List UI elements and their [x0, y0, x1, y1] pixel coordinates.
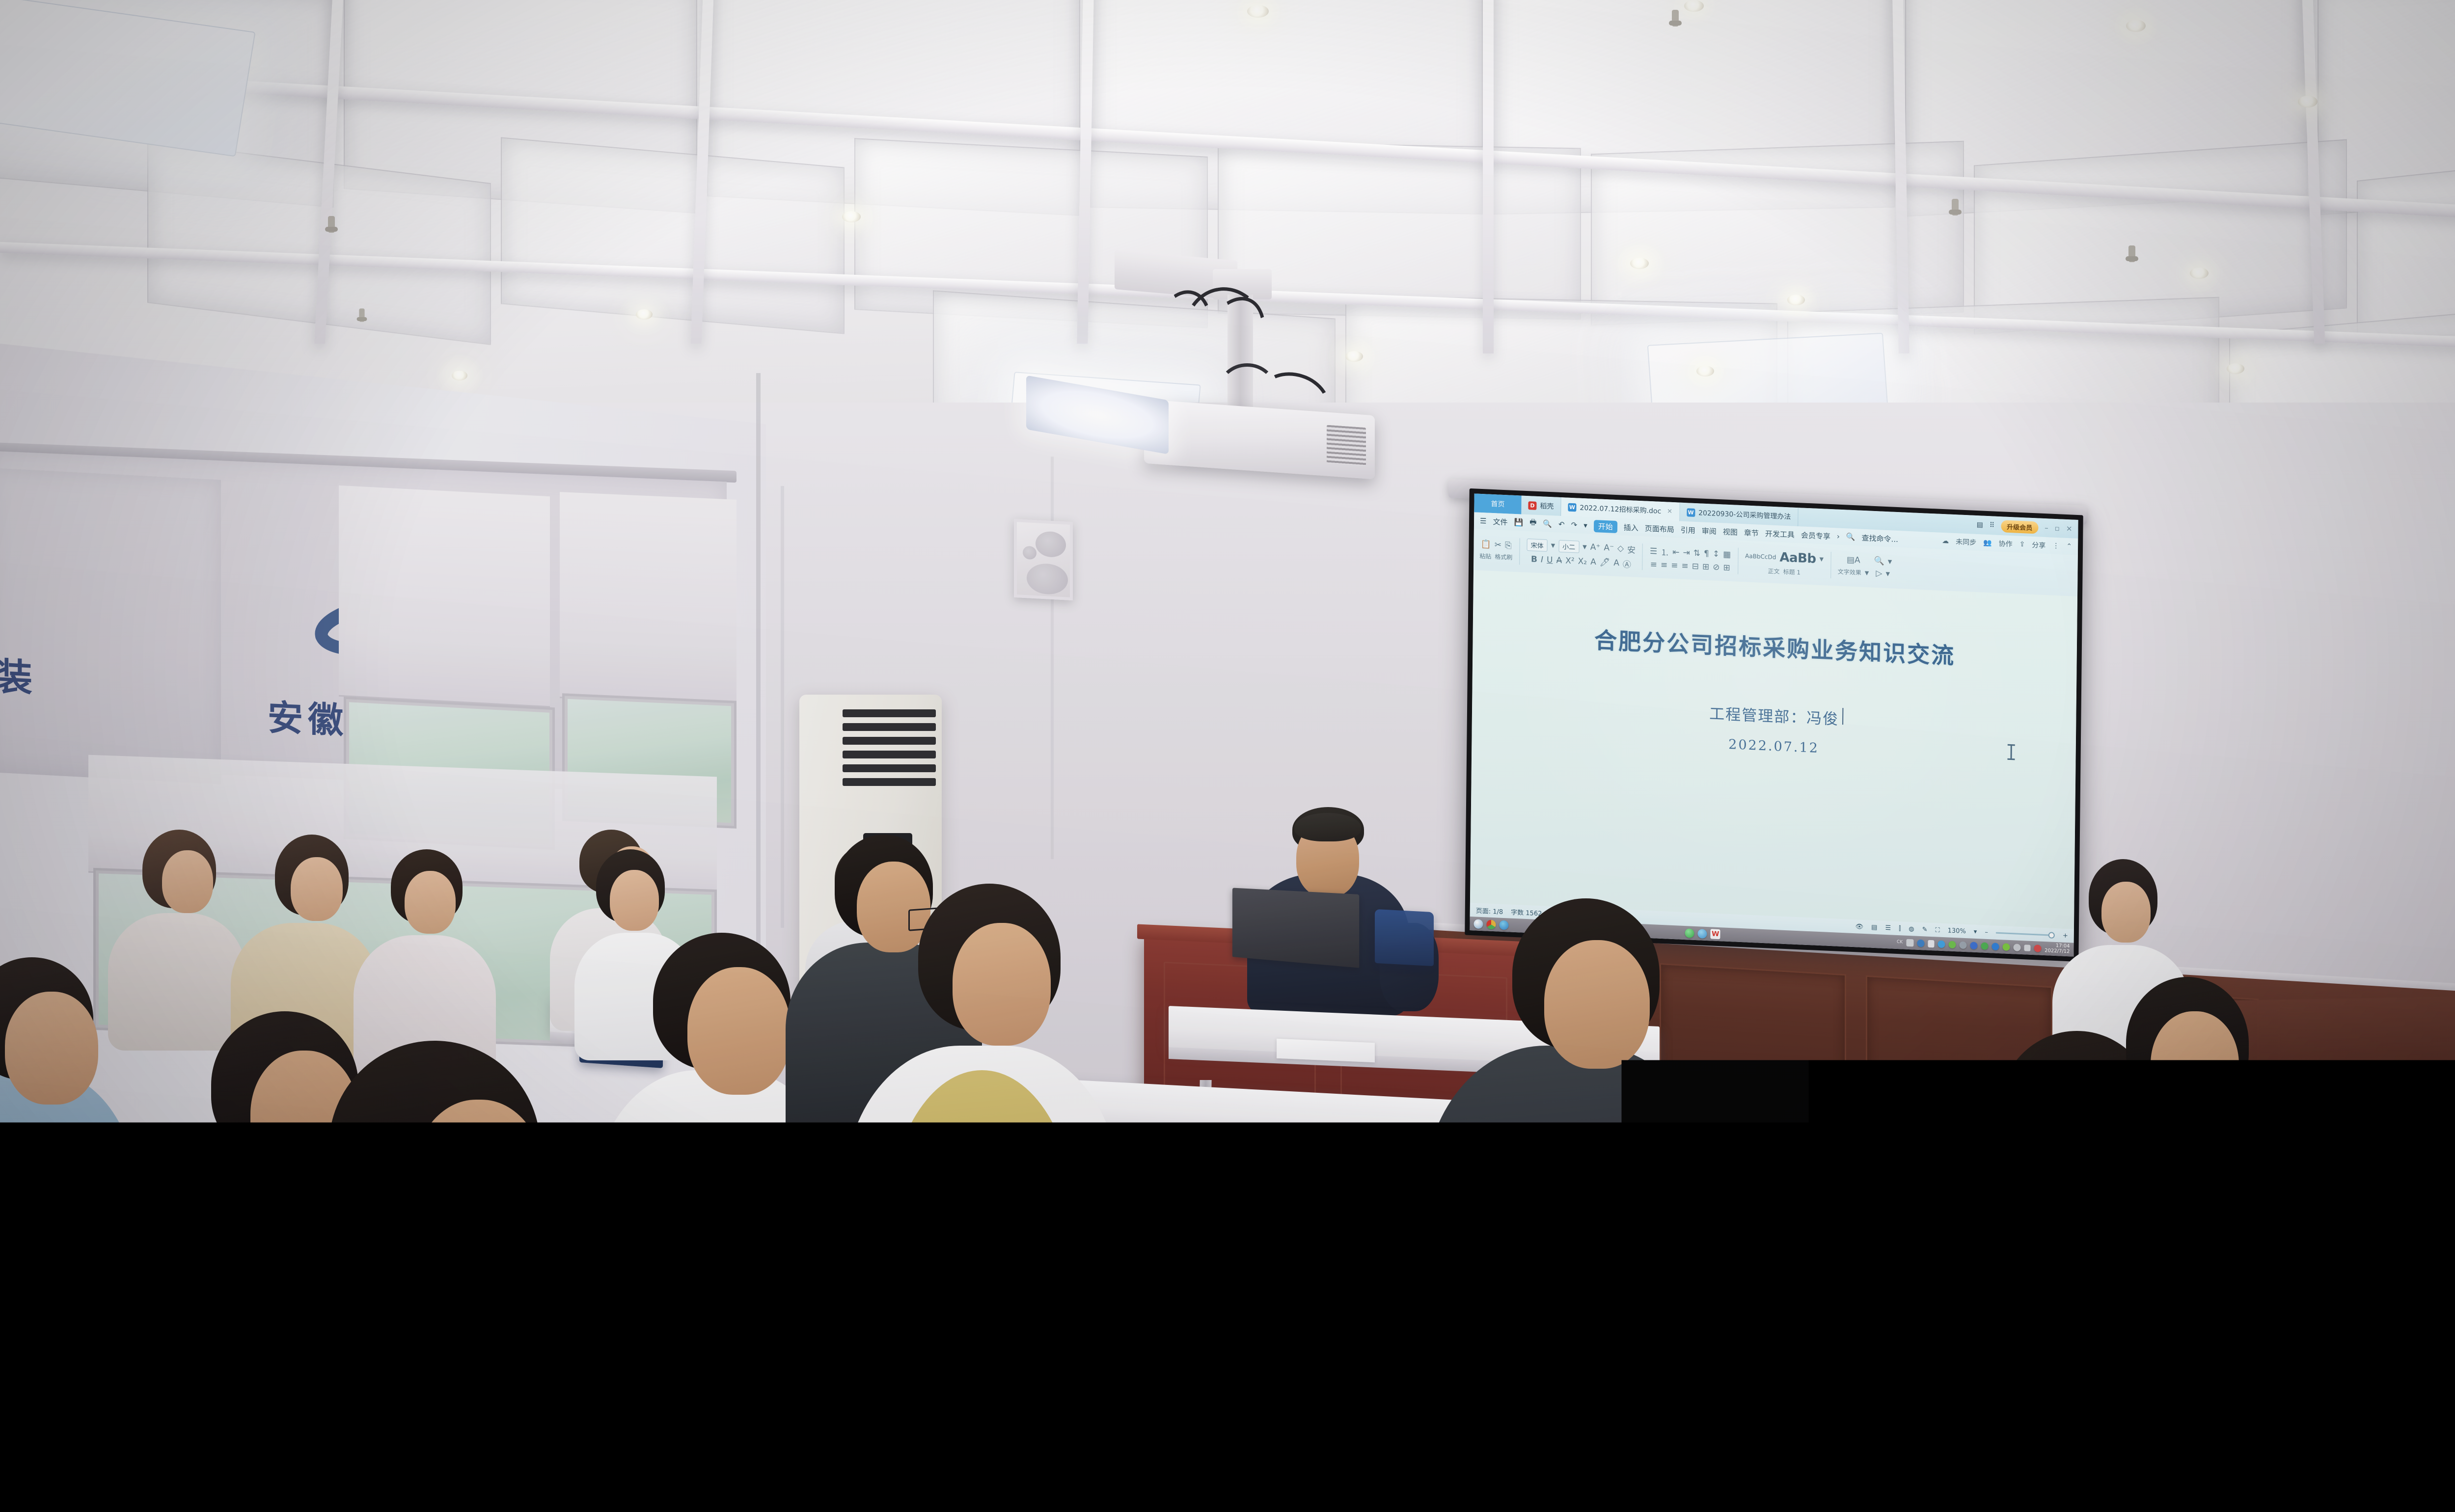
text-caret — [1842, 708, 1843, 725]
underline-button[interactable]: U — [1547, 555, 1553, 566]
print-icon[interactable]: 🖶 — [1529, 517, 1536, 530]
show-marks-icon[interactable]: ¶ — [1704, 548, 1709, 558]
shading-icon[interactable]: ▦ — [1723, 549, 1731, 560]
page-view-icon[interactable]: ▤ — [1871, 923, 1877, 931]
align-right-icon[interactable]: ≡ — [1671, 561, 1678, 571]
zoom-chevron-icon[interactable]: ▾ — [1974, 928, 1977, 935]
document-tab-label: 2022.07.12招标采购.doc — [1580, 503, 1661, 516]
ribbon-divider — [1519, 538, 1520, 565]
clipboard-group: 📋 ✂ ⎘ 粘贴 格式刷 — [1479, 540, 1512, 562]
word-count[interactable]: 字数 1562 — [1511, 907, 1542, 918]
chevron-down-icon[interactable]: ▾ — [1551, 540, 1555, 550]
ribbon-divider — [1830, 552, 1831, 578]
increase-indent-icon[interactable]: ⇥ — [1683, 547, 1690, 558]
share-icon: ⇪ — [2019, 540, 2025, 549]
no-border-icon[interactable]: ⊘ — [1713, 563, 1719, 573]
chevron-down-icon[interactable]: ▾ — [1582, 542, 1587, 552]
text-tools-group: ▤A 文字效果 ▾ — [1838, 554, 1869, 578]
chevron-down-icon[interactable]: ▾ — [1885, 568, 1890, 578]
signal-tray-icon[interactable] — [2024, 945, 2030, 951]
strikethrough-icon[interactable]: A̶ — [1556, 556, 1562, 566]
print-preview-icon[interactable]: 🔍 — [1543, 519, 1552, 528]
styles-chevron-icon[interactable]: ▾ — [1819, 554, 1824, 564]
taskbar-spacer-right — [1724, 935, 1893, 942]
taskbar-clock[interactable]: 17:04 2022/7/12 — [2045, 943, 2070, 955]
quick-access-chevron-icon[interactable]: ▾ — [1583, 521, 1587, 530]
word-doc-icon: W — [1687, 508, 1695, 517]
zoom-in-button[interactable]: + — [2063, 932, 2068, 939]
text-layout-icon[interactable]: ▤A — [1847, 555, 1860, 565]
wps-home-tab[interactable]: 首页 — [1474, 493, 1521, 514]
search-icon[interactable]: 🔍 — [1846, 532, 1855, 541]
copy-icon[interactable]: ⎘ — [1505, 540, 1512, 551]
classroom-scene: 安徽·安装 装 27 — [0, 0, 2455, 1512]
screenshot-icon[interactable] — [1906, 939, 1913, 946]
note-tray-icon[interactable] — [1928, 940, 1934, 947]
wps-office-window: 首页 D 稻壳 W 2022.07.12招标采购.doc ✕ W 2022093… — [1470, 493, 2078, 956]
web-view-icon[interactable]: ◍ — [1909, 925, 1914, 932]
chevron-down-icon[interactable]: ▾ — [1888, 557, 1892, 567]
banner-edge-text: 装 — [0, 646, 38, 702]
green-dot-tray-icon[interactable] — [2002, 943, 2010, 951]
ribbon-tab-developer[interactable]: 开发工具 — [1765, 528, 1795, 540]
document-subtitle-text: 工程管理部：冯俊 — [1709, 705, 1839, 729]
ribbon-tab-file[interactable]: 文件 — [1493, 516, 1507, 527]
ribbon-overflow-icon[interactable]: › — [1837, 532, 1840, 541]
line-spacing-icon[interactable]: ↕ — [1713, 549, 1719, 559]
vest-overlay — [889, 1070, 1075, 1375]
pinyin-guide-icon[interactable]: 安 — [1627, 542, 1636, 555]
zoom-slider[interactable] — [1996, 932, 2055, 936]
superscript-icon[interactable]: X² — [1565, 556, 1575, 566]
shield-tray-icon[interactable] — [1970, 942, 1977, 949]
font-size-input[interactable]: 小二 — [1558, 540, 1579, 553]
apps-grid-icon[interactable]: ⠿ — [1990, 521, 1994, 529]
undo-icon[interactable]: ↶ — [1558, 520, 1565, 529]
presenter-hair-top — [1294, 813, 1361, 841]
document-date: 2022.07.12 — [1728, 737, 1819, 756]
paper-sheet-back — [1277, 1039, 1375, 1062]
spellcheck-icon[interactable]: 👁 — [1855, 923, 1864, 931]
document-tab-label: 20220930-公司采购管理办法 — [1698, 508, 1791, 521]
ribbon-divider — [1642, 543, 1643, 570]
subscript-icon[interactable]: X₂ — [1578, 557, 1587, 567]
company-banner-left-edge — [0, 467, 221, 784]
docker-icon: D — [1528, 501, 1536, 510]
paragraph-group: ☰ ⒈ ⇤ ⇥ ⇅ ¶ ↕ ▦ ≡ ≡ ≡ — [1650, 545, 1731, 573]
distribute-icon[interactable]: ⊟ — [1692, 562, 1699, 572]
ribbon-more-icon[interactable]: ⋮ — [2052, 542, 2059, 550]
ribbon-tab-review[interactable]: 审阅 — [1702, 525, 1717, 536]
zoom-level[interactable]: 130% — [1948, 927, 1966, 935]
close-tab-icon[interactable]: ✕ — [1667, 508, 1672, 515]
projected-display: 首页 D 稻壳 W 2022.07.12招标采购.doc ✕ W 2022093… — [1470, 493, 2078, 956]
eyeglasses — [692, 1244, 744, 1278]
maximize-icon[interactable]: ▫ — [2055, 524, 2060, 533]
style-preview-heading[interactable]: AaBb — [1779, 550, 1816, 567]
style-name-body[interactable]: 正文 — [1768, 567, 1780, 575]
chrome-icon[interactable] — [1486, 919, 1496, 929]
sync-status-icon: ☁ — [1942, 537, 1949, 545]
share-label[interactable]: 分享 — [2032, 540, 2046, 550]
ribbon-tab-references[interactable]: 引用 — [1681, 524, 1695, 535]
styles-group: AaBbCcDd AaBb ▾ 正文 标题 1 — [1745, 548, 1824, 577]
format-painter-label[interactable]: 格式刷 — [1495, 552, 1512, 562]
command-search-input[interactable]: 查找命令... — [1862, 532, 1899, 544]
shrink-font-icon[interactable]: A⁻ — [1604, 543, 1614, 553]
wechat-icon[interactable] — [1685, 928, 1694, 938]
clear-format-icon[interactable]: ◇ — [1617, 543, 1624, 554]
ribbon-tab-home[interactable]: 开始 — [1594, 519, 1617, 533]
style-name-heading1[interactable]: 标题 1 — [1783, 567, 1801, 577]
ribbon-divider — [1738, 548, 1739, 574]
mouse-ibeam-cursor — [2011, 746, 2012, 758]
presenter-chair — [1375, 909, 1434, 966]
ribbon-tab-page-layout[interactable]: 页面布局 — [1645, 523, 1674, 535]
collaborate-label[interactable]: 协作 — [1999, 539, 2013, 549]
document-tab-0[interactable]: D 稻壳 — [1521, 496, 1561, 516]
grid-view-icon[interactable]: ▤ — [1977, 521, 1983, 529]
key-tray-icon[interactable] — [2013, 944, 2020, 951]
upgrade-vip-button[interactable]: 升级会员 — [2001, 520, 2038, 534]
numbered-list-icon[interactable]: ⒈ — [1661, 545, 1669, 558]
outline-view-icon[interactable]: ☰ — [1885, 924, 1891, 932]
paragraph-layout-icon[interactable]: ⊞ — [1702, 562, 1709, 572]
printer-tray-icon[interactable] — [1959, 941, 1966, 949]
presenter-laptop — [1232, 888, 1359, 968]
projection-screen: 首页 D 稻壳 W 2022.07.12招标采购.doc ✕ W 2022093… — [1465, 488, 2083, 962]
text-effect-label[interactable]: 文字效果 — [1838, 567, 1861, 577]
ribbon-bar-spacer — [1905, 540, 1936, 541]
sailing-browser-icon[interactable] — [1698, 929, 1707, 939]
highlight-icon[interactable]: 🖊 — [1600, 557, 1610, 567]
borders-icon[interactable]: ⊞ — [1723, 563, 1730, 573]
bold-button[interactable]: B — [1531, 554, 1537, 565]
sync-tray-icon[interactable] — [1917, 939, 1924, 947]
collaborate-icon: 👥 — [1983, 539, 1992, 547]
window-blind-left — [339, 486, 550, 708]
document-title: 合肥分公司招标采购业务知识交流 — [1594, 622, 1956, 671]
capslock-indicator: CK — [1897, 940, 1903, 945]
align-left-icon[interactable]: ≡ — [1650, 560, 1657, 570]
zoom-slider-knob[interactable] — [2048, 932, 2055, 939]
close-window-icon[interactable]: ✕ — [2066, 524, 2073, 534]
reading-view-icon[interactable]: ⫿ — [1899, 925, 1901, 932]
bluetooth-tray-icon[interactable] — [1991, 943, 1999, 950]
document-page[interactable]: 合肥分公司招标采购业务知识交流 工程管理部：冯俊 2022.07.12 — [1470, 570, 2077, 929]
chevron-down-icon[interactable]: ▾ — [1865, 568, 1869, 578]
bullet-list-icon[interactable]: ☰ — [1650, 546, 1657, 556]
menu-hamburger-icon[interactable]: ☰ — [1480, 516, 1487, 526]
italic-button[interactable]: I — [1541, 555, 1543, 565]
grow-font-icon[interactable]: A⁺ — [1590, 542, 1601, 553]
character-border-icon[interactable]: Ⓐ — [1623, 557, 1631, 570]
wps-writer-icon[interactable]: W — [1711, 929, 1720, 939]
word-doc-icon: W — [1568, 503, 1576, 512]
paste-label: 粘贴 — [1479, 552, 1491, 561]
ribbon-tab-view[interactable]: 视图 — [1723, 526, 1738, 537]
sort-icon[interactable]: ⇅ — [1693, 548, 1700, 558]
document-tab-label: 稻壳 — [1540, 501, 1554, 511]
find-replace-icon[interactable]: 🔍 — [1874, 556, 1884, 566]
sync-status-label[interactable]: 未同步 — [1956, 537, 1976, 547]
collapse-ribbon-icon[interactable]: ⌃ — [2066, 542, 2072, 551]
cut-icon[interactable]: ✂ — [1495, 540, 1501, 550]
align-center-icon[interactable]: ≡ — [1661, 560, 1667, 570]
font-name-input[interactable]: 宋体 — [1527, 539, 1548, 552]
editing-group: 🔍 ▾ ▷ ▾ — [1874, 556, 1892, 579]
cloud-tray-icon[interactable] — [1948, 941, 1956, 948]
edge-icon[interactable] — [1499, 920, 1508, 930]
text-effects-icon[interactable]: A — [1590, 557, 1596, 567]
window-blind-mid — [560, 492, 736, 706]
annotate-icon[interactable]: ✎ — [1922, 926, 1928, 933]
document-subtitle: 工程管理部：冯俊 — [1709, 701, 1839, 729]
minimize-icon[interactable]: – — [2045, 523, 2048, 532]
redo-icon[interactable]: ↷ — [1571, 520, 1578, 530]
style-preview-body[interactable]: AaBbCcDd — [1745, 552, 1776, 561]
start-orb-icon[interactable] — [1473, 919, 1483, 929]
fit-page-icon[interactable]: ⛶ — [1935, 926, 1939, 934]
select-objects-icon[interactable]: ▷ — [1876, 568, 1882, 579]
ribbon-tab-vip[interactable]: 会员专享 — [1801, 530, 1830, 541]
wall-speaker-left — [1014, 519, 1073, 600]
zoom-out-button[interactable]: – — [1985, 928, 1988, 936]
ribbon-tab-section[interactable]: 章节 — [1744, 527, 1759, 538]
clock-date: 2022/7/12 — [2045, 948, 2070, 955]
save-icon[interactable]: 💾 — [1514, 518, 1523, 527]
ribbon-tab-insert[interactable]: 插入 — [1624, 522, 1638, 533]
paste-icon[interactable]: 📋 — [1480, 540, 1491, 550]
page-indicator[interactable]: 页面: 1/8 — [1476, 905, 1503, 916]
justify-icon[interactable]: ≡ — [1681, 561, 1688, 571]
font-group: 宋体 ▾ 小二 ▾ A⁺ A⁻ ◇ 安 B I U — [1527, 539, 1636, 570]
volume-tray-icon[interactable] — [2034, 945, 2041, 952]
font-color-icon[interactable]: A — [1613, 558, 1619, 568]
decrease-indent-icon[interactable]: ⇤ — [1672, 547, 1679, 557]
check-shield-tray-icon[interactable] — [1981, 942, 1988, 950]
globe-tray-icon[interactable] — [1937, 940, 1945, 948]
ribbon-right-actions: ☁ 未同步 👥 协作 ⇪ 分享 ⋮ ⌃ — [1942, 536, 2072, 552]
